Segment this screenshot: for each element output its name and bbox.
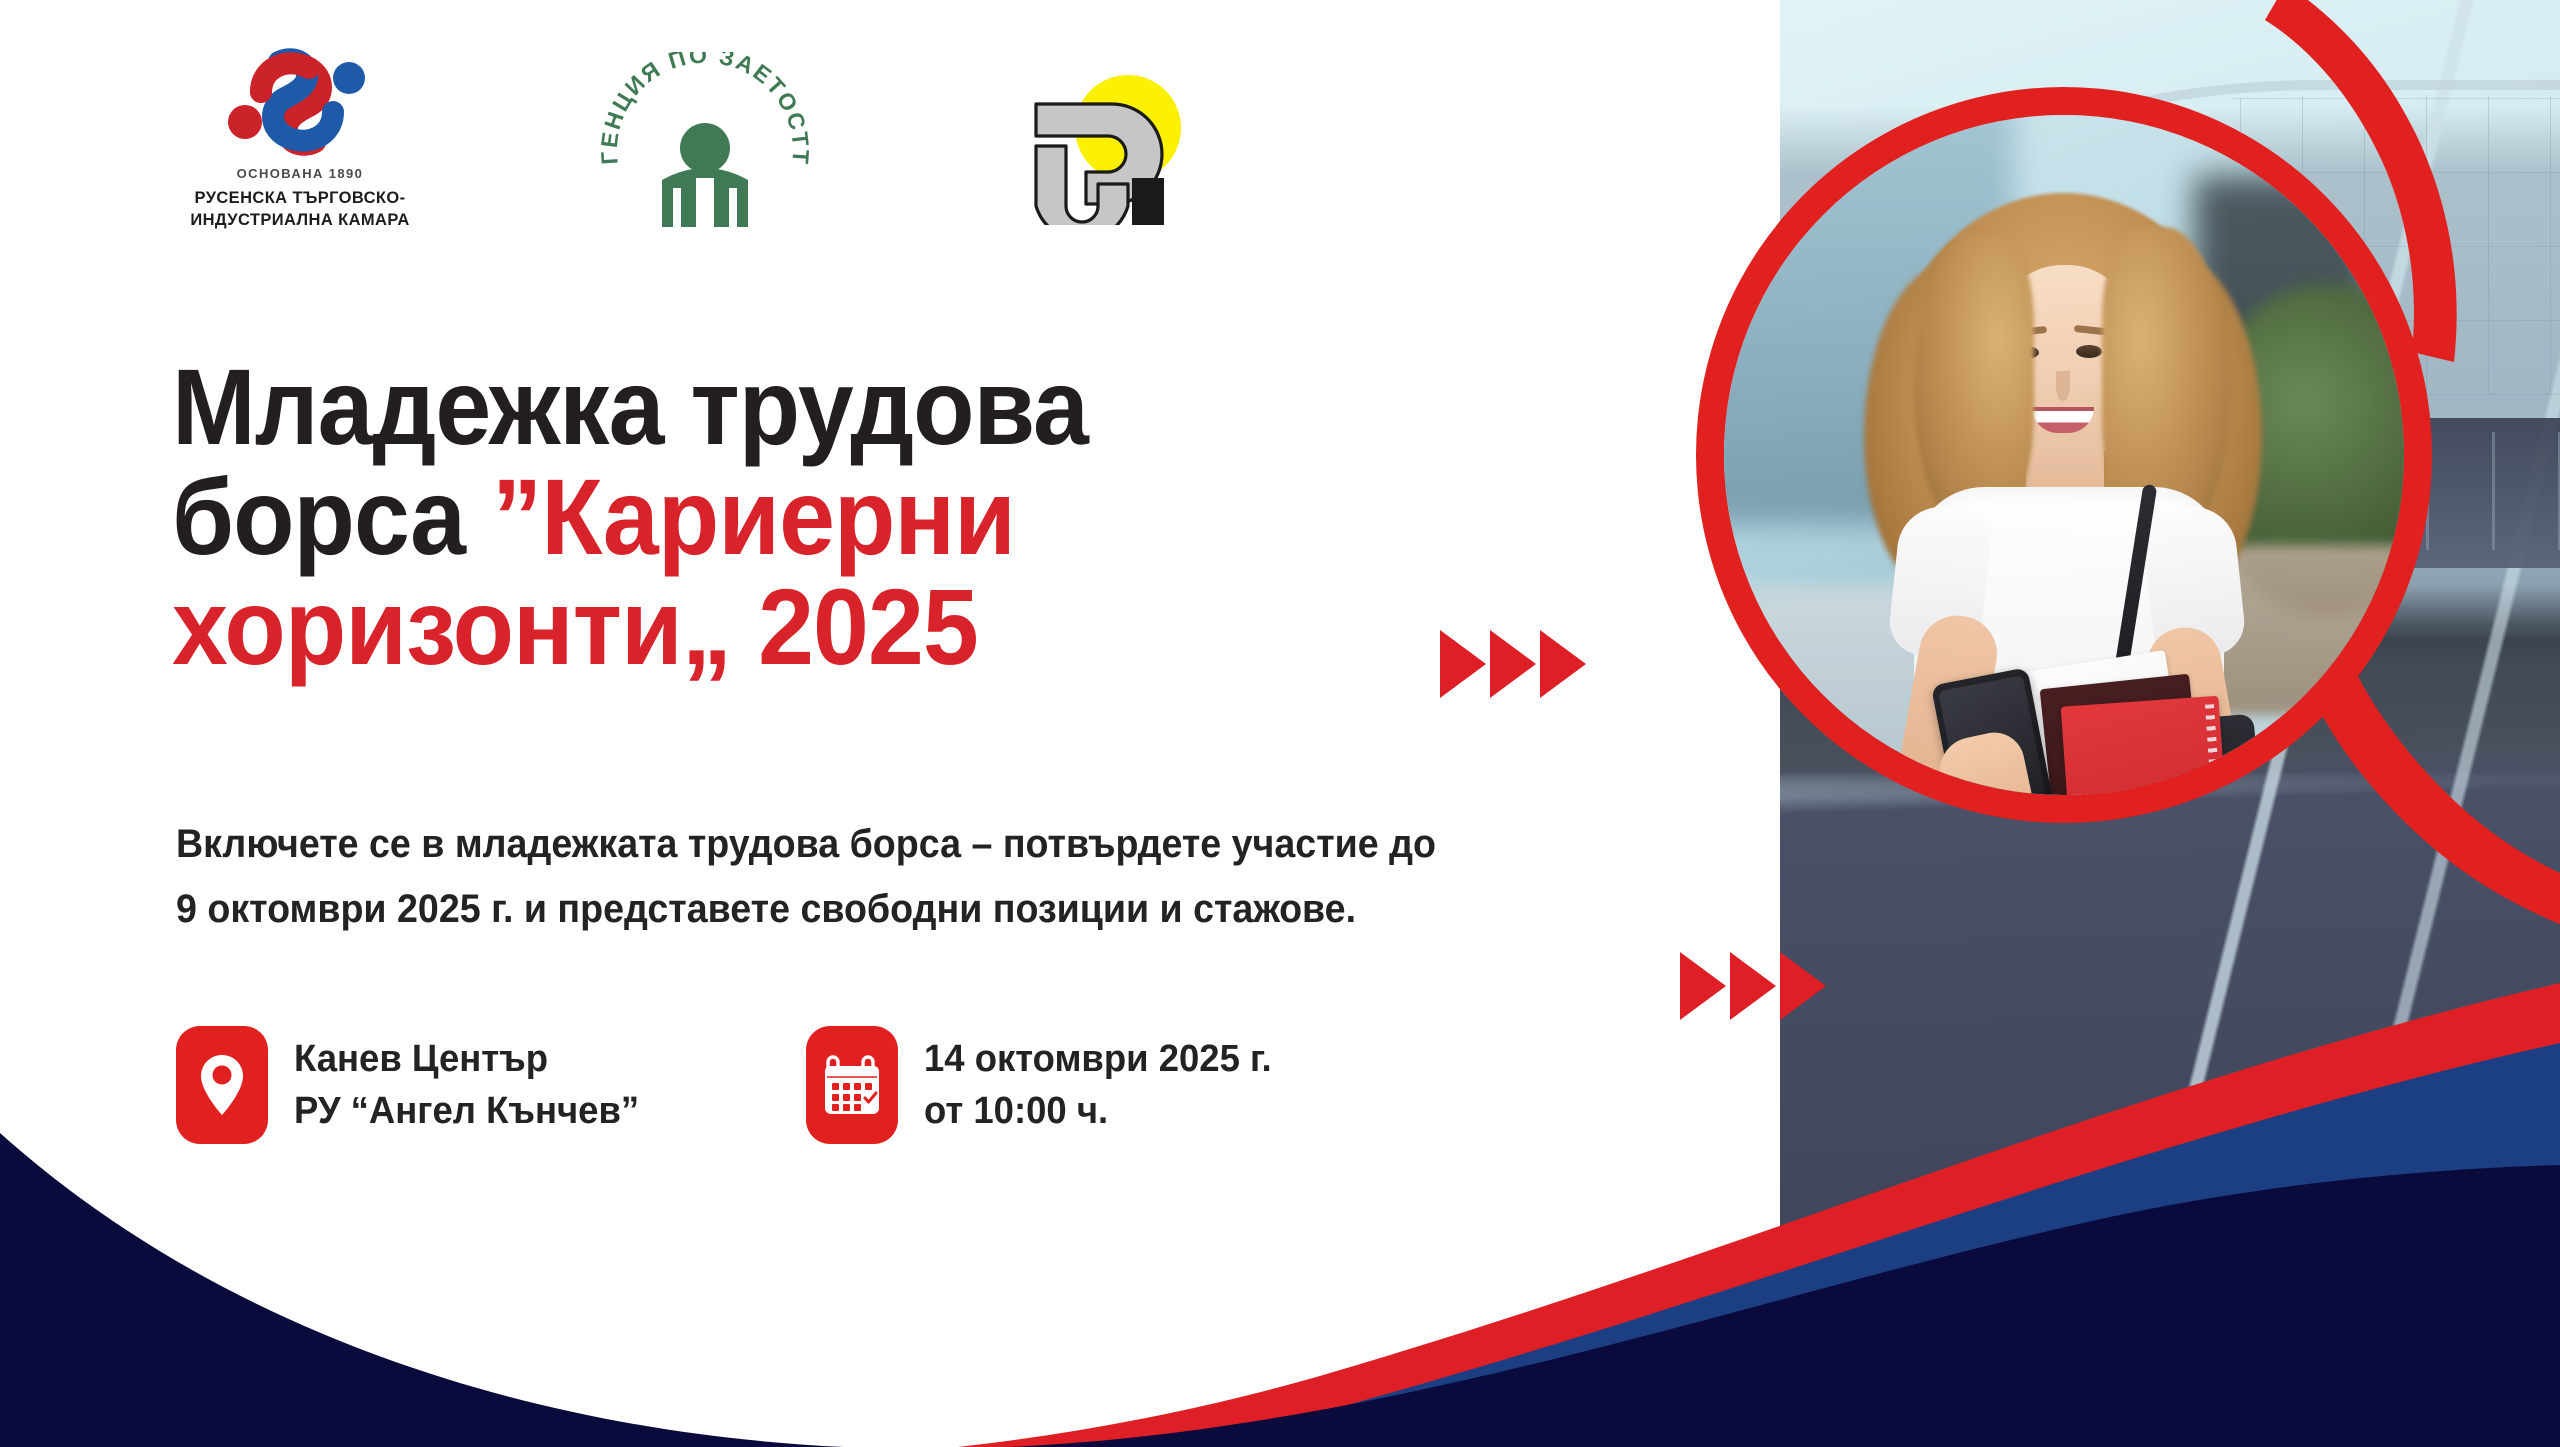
- arrow-right-icon: [1490, 630, 1536, 698]
- calendar-icon: [823, 1052, 881, 1118]
- description-line-2: 9 октомври 2025 г. и представете свободн…: [176, 877, 1511, 942]
- person-in-circle-green-mark-icon: АГЕНЦИЯ ПО ЗАЕТОСТТА: [590, 52, 820, 227]
- headline-line-2-red: ”Кариерни: [492, 456, 1015, 577]
- headline-line-3: хоризонти„ 2025: [172, 572, 1455, 682]
- venue-line-1: Канев Център: [294, 1034, 639, 1086]
- headline-line-1: Младежка трудова: [172, 352, 1455, 462]
- headline-line-2-black: борса: [172, 456, 492, 577]
- ruse-university-logo[interactable]: [1000, 60, 1220, 225]
- arrow-right-icon: [1440, 630, 1486, 698]
- student-photo-medallion: [1724, 115, 2404, 795]
- logo-row: ОСНОВАНА 1890 РУСЕНСКА ТЪРГОВСКО- ИНДУСТ…: [170, 48, 1420, 238]
- venue-text: Канев Център РУ “Ангел Кънчев”: [294, 1026, 639, 1137]
- rtik-established-label: ОСНОВАНА 1890: [170, 166, 430, 181]
- event-details: Канев Център РУ “Ангел Кънчев”: [176, 1026, 1516, 1176]
- nose: [2056, 371, 2070, 401]
- datetime-line-1: 14 октомври 2025 г.: [924, 1034, 1272, 1086]
- arrow-right-icon: [1680, 952, 1726, 1020]
- location-pin-badge: [176, 1026, 268, 1144]
- promo-banner: TRE: [0, 0, 2560, 1447]
- arrow-right-icon: [1540, 630, 1586, 698]
- notebook-red: [2061, 696, 2234, 795]
- student-figure: [1724, 115, 2404, 795]
- eye-right: [2076, 345, 2102, 358]
- calendar-badge: [806, 1026, 898, 1144]
- three-people-swirl-mark-icon: [225, 48, 375, 156]
- employment-agency-logo[interactable]: АГЕНЦИЯ ПО ЗАЕТОСТТА: [590, 52, 820, 227]
- arrow-right-icon: [1780, 952, 1826, 1020]
- datetime-info: 14 октомври 2025 г. от 10:00 ч.: [806, 1026, 1286, 1144]
- content-column: ОСНОВАНА 1890 РУСЕНСКА ТЪРГОВСКО- ИНДУСТ…: [0, 0, 1700, 1447]
- ruse-chamber-of-commerce-logo[interactable]: ОСНОВАНА 1890 РУСЕНСКА ТЪРГОВСКО- ИНДУСТ…: [170, 48, 430, 232]
- arrow-triple-upper: [1440, 630, 1586, 698]
- rtik-title-line2: ИНДУСТРИАЛНА КАМАРА: [170, 209, 430, 231]
- arrow-right-icon: [1730, 952, 1776, 1020]
- medallion-photo: [1724, 115, 2404, 795]
- headline-line-2: борса ”Кариерни: [172, 462, 1455, 572]
- description-text: Включете се в младежката трудова борса –…: [176, 812, 1511, 942]
- page-title: Младежка трудова борса ”Кариерни хоризон…: [172, 352, 1455, 682]
- venue-info: Канев Център РУ “Ангел Кънчев”: [176, 1026, 654, 1144]
- rtik-title-line1: РУСЕНСКА ТЪРГОВСКО-: [170, 187, 430, 209]
- venue-line-2: РУ “Ангел Кънчев”: [294, 1086, 639, 1138]
- datetime-text: 14 октомври 2025 г. от 10:00 ч.: [924, 1026, 1272, 1137]
- description-line-1: Включете се в младежката трудова борса –…: [176, 812, 1511, 877]
- ru-monogram-with-sun-icon: [1000, 60, 1220, 225]
- location-pin-icon: [199, 1052, 245, 1118]
- arrow-triple-lower: [1680, 952, 1826, 1020]
- datetime-line-2: от 10:00 ч.: [924, 1086, 1272, 1138]
